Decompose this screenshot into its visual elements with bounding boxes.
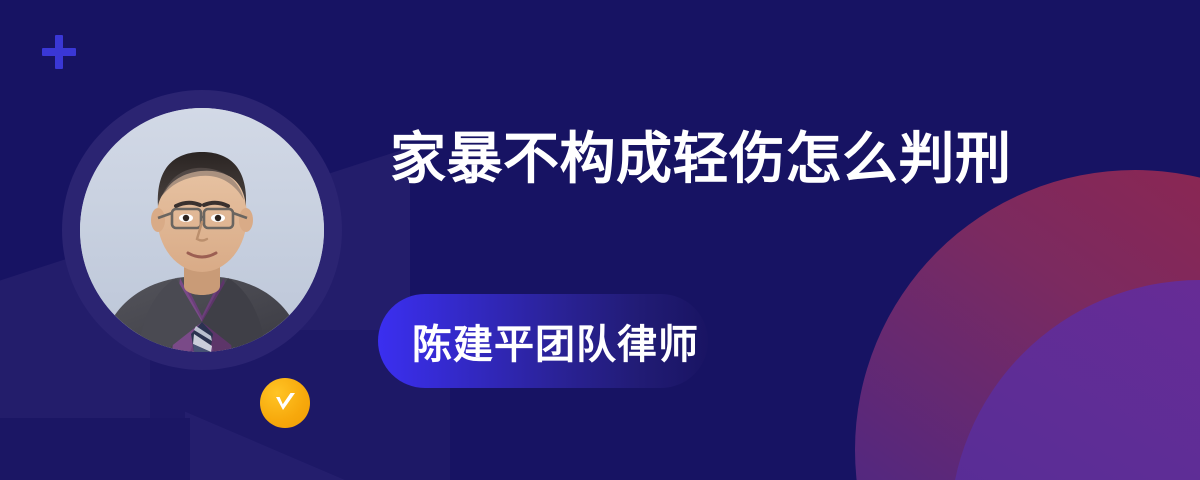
lawyer-name-label: 陈建平团队律师 [412, 312, 699, 370]
lawyer-promo-banner: 家暴不构成轻伤怎么判刑 陈建平团队律师 [0, 0, 1200, 480]
decor-arc-crimson [855, 170, 1200, 480]
avatar[interactable] [62, 90, 342, 370]
decor-arc-purple [950, 280, 1200, 480]
lawyer-portrait-photo [80, 108, 324, 352]
decor-polygon-bottom-strip [0, 418, 190, 480]
lawyer-name-pill[interactable]: 陈建平团队律师 [378, 294, 708, 388]
verified-check-icon [260, 378, 310, 428]
plus-icon [40, 33, 78, 71]
page-title: 家暴不构成轻伤怎么判刑 [390, 126, 1012, 192]
